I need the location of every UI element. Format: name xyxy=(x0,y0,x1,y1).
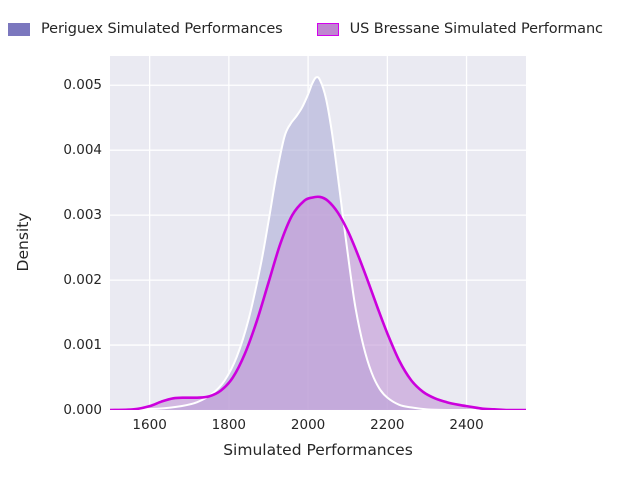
legend-entry-periguex[interactable]: Periguex Simulated Performances xyxy=(8,21,283,37)
color-swatch-icon xyxy=(317,23,339,36)
x-axis-label: Simulated Performances xyxy=(110,441,526,459)
x-tick-label: 2000 xyxy=(291,417,325,433)
y-tick-label: 0.004 xyxy=(63,142,102,158)
legend-entry-us-bressane[interactable]: US Bressane Simulated Performanc xyxy=(317,21,603,37)
x-tick-label: 2400 xyxy=(449,417,483,433)
kde-area-fill xyxy=(110,197,526,410)
y-tick-label: 0.002 xyxy=(63,272,102,288)
color-swatch-icon xyxy=(8,23,30,36)
x-tick-label: 1600 xyxy=(132,417,166,433)
chart-legend: Periguex Simulated Performances US Bress… xyxy=(0,14,640,44)
kde-plot-canvas xyxy=(110,56,526,410)
x-tick-label: 2200 xyxy=(370,417,404,433)
legend-label-periguex: Periguex Simulated Performances xyxy=(41,21,283,37)
y-tick-label: 0.003 xyxy=(63,207,102,223)
kde-density-figure: 0.0000.0010.0020.0030.0040.005 Simulated… xyxy=(0,0,640,480)
series-group xyxy=(110,77,526,410)
x-tick-label: 1800 xyxy=(212,417,246,433)
y-axis-label: Density xyxy=(14,182,32,302)
y-tick-label: 0.001 xyxy=(63,337,102,353)
y-tick-label: 0.005 xyxy=(63,77,102,93)
y-tick-label: 0.000 xyxy=(63,402,102,418)
legend-label-us-bressane: US Bressane Simulated Performanc xyxy=(350,21,603,37)
y-axis-ticks: 0.0000.0010.0020.0030.0040.005 xyxy=(38,0,102,480)
